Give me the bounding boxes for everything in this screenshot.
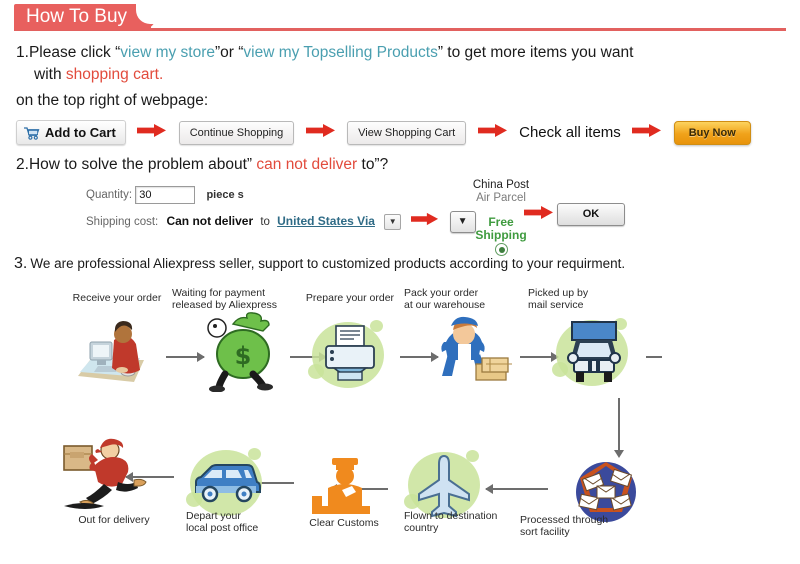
chevron-down-icon[interactable]: ▼ [384, 214, 401, 230]
flow-node-pack-order [424, 314, 516, 388]
step-3-text: We are professional Aliexpress seller, s… [30, 256, 625, 271]
view-my-store-link[interactable]: view my store [120, 44, 215, 61]
ok-button[interactable]: OK [557, 203, 625, 226]
flow-caption-flown-destination: Flown to destination country [404, 510, 524, 534]
person-at-computer-icon [70, 320, 162, 394]
flow-node-picked-up [548, 316, 640, 390]
right-arrow-icon [306, 123, 336, 143]
flow-caption-pack-order: Pack your order at our warehouse [404, 287, 516, 311]
quantity-label: Quantity: [86, 185, 132, 205]
shipping-status: Can not deliver [166, 214, 253, 228]
shipping-to-word: to [260, 216, 270, 228]
step-1-line2-a: with [34, 66, 66, 83]
flow-node-depart-post-office [182, 446, 274, 520]
shipping-form: Quantity: 30 piece s Shipping cost: Can … [86, 185, 476, 237]
carrier-line-1: China Post [455, 179, 547, 192]
flow-arrow-5 [486, 488, 548, 490]
continue-shopping-button[interactable]: Continue Shopping [179, 121, 295, 145]
shopping-cart-highlight: shopping cart [66, 66, 159, 83]
worker-packing-boxes-icon [424, 314, 516, 388]
flow-caption-waiting-payment: Waiting for payment released by Aliexpre… [172, 287, 300, 311]
page-header: How To Buy [0, 0, 800, 34]
step-2-text-b: to”? [357, 156, 388, 173]
caption-line-1: Waiting for payment [172, 287, 300, 299]
flow-node-out-for-delivery [58, 436, 168, 516]
svg-text:$: $ [235, 342, 252, 370]
right-arrow-icon [478, 123, 508, 143]
step-1-line-1: 1.Please click “view my store”or “view m… [16, 44, 633, 62]
right-arrow-icon [632, 123, 662, 143]
view-topselling-products-link[interactable]: view my Topselling Products [243, 44, 437, 61]
flow-caption-picked-up: Picked up by mail service [528, 287, 632, 311]
caption-line-2: local post office [186, 522, 290, 534]
step-1-line-2: with shopping cart. [34, 66, 163, 84]
caption-line-2: sort facility [520, 526, 638, 538]
caption-line-2: country [404, 522, 524, 534]
flow-caption-receive-order: Receive your order [62, 292, 172, 304]
step-3-line: 3.We are professional Aliexpress seller,… [14, 255, 625, 273]
flow-arrow-down [618, 398, 620, 450]
step-1-text-b: ”or “ [215, 44, 243, 61]
truck-icon [548, 316, 640, 390]
flow-node-prepare-order [304, 318, 396, 392]
quantity-input[interactable]: 30 [135, 186, 195, 204]
step-1-number: 1. [16, 44, 29, 61]
right-arrow-icon [137, 123, 167, 143]
carrier-name: China Post Air Parcel [455, 179, 547, 205]
courier-running-icon [58, 436, 168, 516]
step-2-line: 2.How to solve the problem about” can no… [16, 156, 388, 174]
step-1-line-3: on the top right of webpage: [16, 92, 208, 110]
money-bag-icon: $ [195, 312, 287, 386]
caption-line-1: Pack your order [404, 287, 516, 299]
quantity-unit: piece s [206, 189, 243, 201]
checkout-button-strip: Add to Cart Continue Shopping View Shopp… [16, 120, 751, 146]
flow-arrow-stub [646, 356, 662, 358]
step-1-text-c: ” to get more items you want [438, 44, 634, 61]
step-1-text-a: Please click “ [29, 44, 120, 61]
shopping-cart-icon [23, 124, 40, 147]
right-arrow-icon [411, 212, 439, 233]
flow-caption-out-for-delivery: Out for delivery [56, 514, 172, 526]
caption-line-1: Picked up by [528, 287, 632, 299]
flow-node-receive-order [70, 320, 162, 394]
buy-now-button[interactable]: Buy Now [674, 121, 751, 145]
check-all-items-label: Check all items [519, 124, 621, 141]
step-2-text-a: How to solve the problem about” [29, 156, 256, 173]
caption-line-1: Flown to destination [404, 510, 524, 522]
view-shopping-cart-button[interactable]: View Shopping Cart [347, 121, 466, 145]
shipping-country-select[interactable]: United States Via [277, 214, 375, 228]
can-not-deliver-highlight: can not deliver [256, 156, 357, 173]
caption-line-1: Processed through [520, 514, 638, 526]
add-to-cart-label: Add to Cart [45, 125, 116, 140]
delivery-van-icon [182, 446, 274, 520]
flow-caption-sort-facility: Processed through sort facility [520, 514, 638, 538]
caption-line-2: at our warehouse [404, 299, 516, 311]
printer-icon [304, 318, 396, 392]
shipping-flow-diagram: Receive your order Waiting for payment r… [0, 286, 800, 556]
caption-line-1: Clear Customs [292, 517, 396, 529]
flow-caption-prepare-order: Prepare your order [296, 292, 404, 304]
add-to-cart-button[interactable]: Add to Cart [16, 120, 126, 145]
flow-caption-clear-customs: Clear Customs [292, 517, 396, 529]
caption-line-1: Out for delivery [56, 514, 172, 526]
step-3-number: 3. [14, 255, 27, 272]
right-arrow-icon [524, 205, 554, 225]
shipping-cost-row: Shipping cost: Can not deliver to United… [86, 211, 476, 231]
caption-line-1: Depart your [186, 510, 290, 522]
caption-line-1: Prepare your order [296, 292, 404, 304]
step-2-number: 2. [16, 156, 29, 173]
caption-line-2: mail service [528, 299, 632, 311]
free-shipping-line-2: Shipping [455, 229, 547, 242]
caption-line-1: Receive your order [62, 292, 172, 304]
how-to-buy-page: How To Buy 1.Please click “view my store… [0, 0, 800, 564]
quantity-row: Quantity: 30 piece s [86, 185, 476, 205]
shipping-cost-label: Shipping cost: [86, 212, 158, 232]
step-1-line2-b: . [159, 66, 163, 83]
flow-caption-depart-post-office: Depart your local post office [186, 510, 290, 534]
carrier-line-2: Air Parcel [455, 192, 547, 205]
header-tab-notch [130, 4, 156, 30]
caption-line-2: released by Aliexpress [172, 299, 300, 311]
flow-node-waiting-payment: $ [195, 312, 287, 386]
